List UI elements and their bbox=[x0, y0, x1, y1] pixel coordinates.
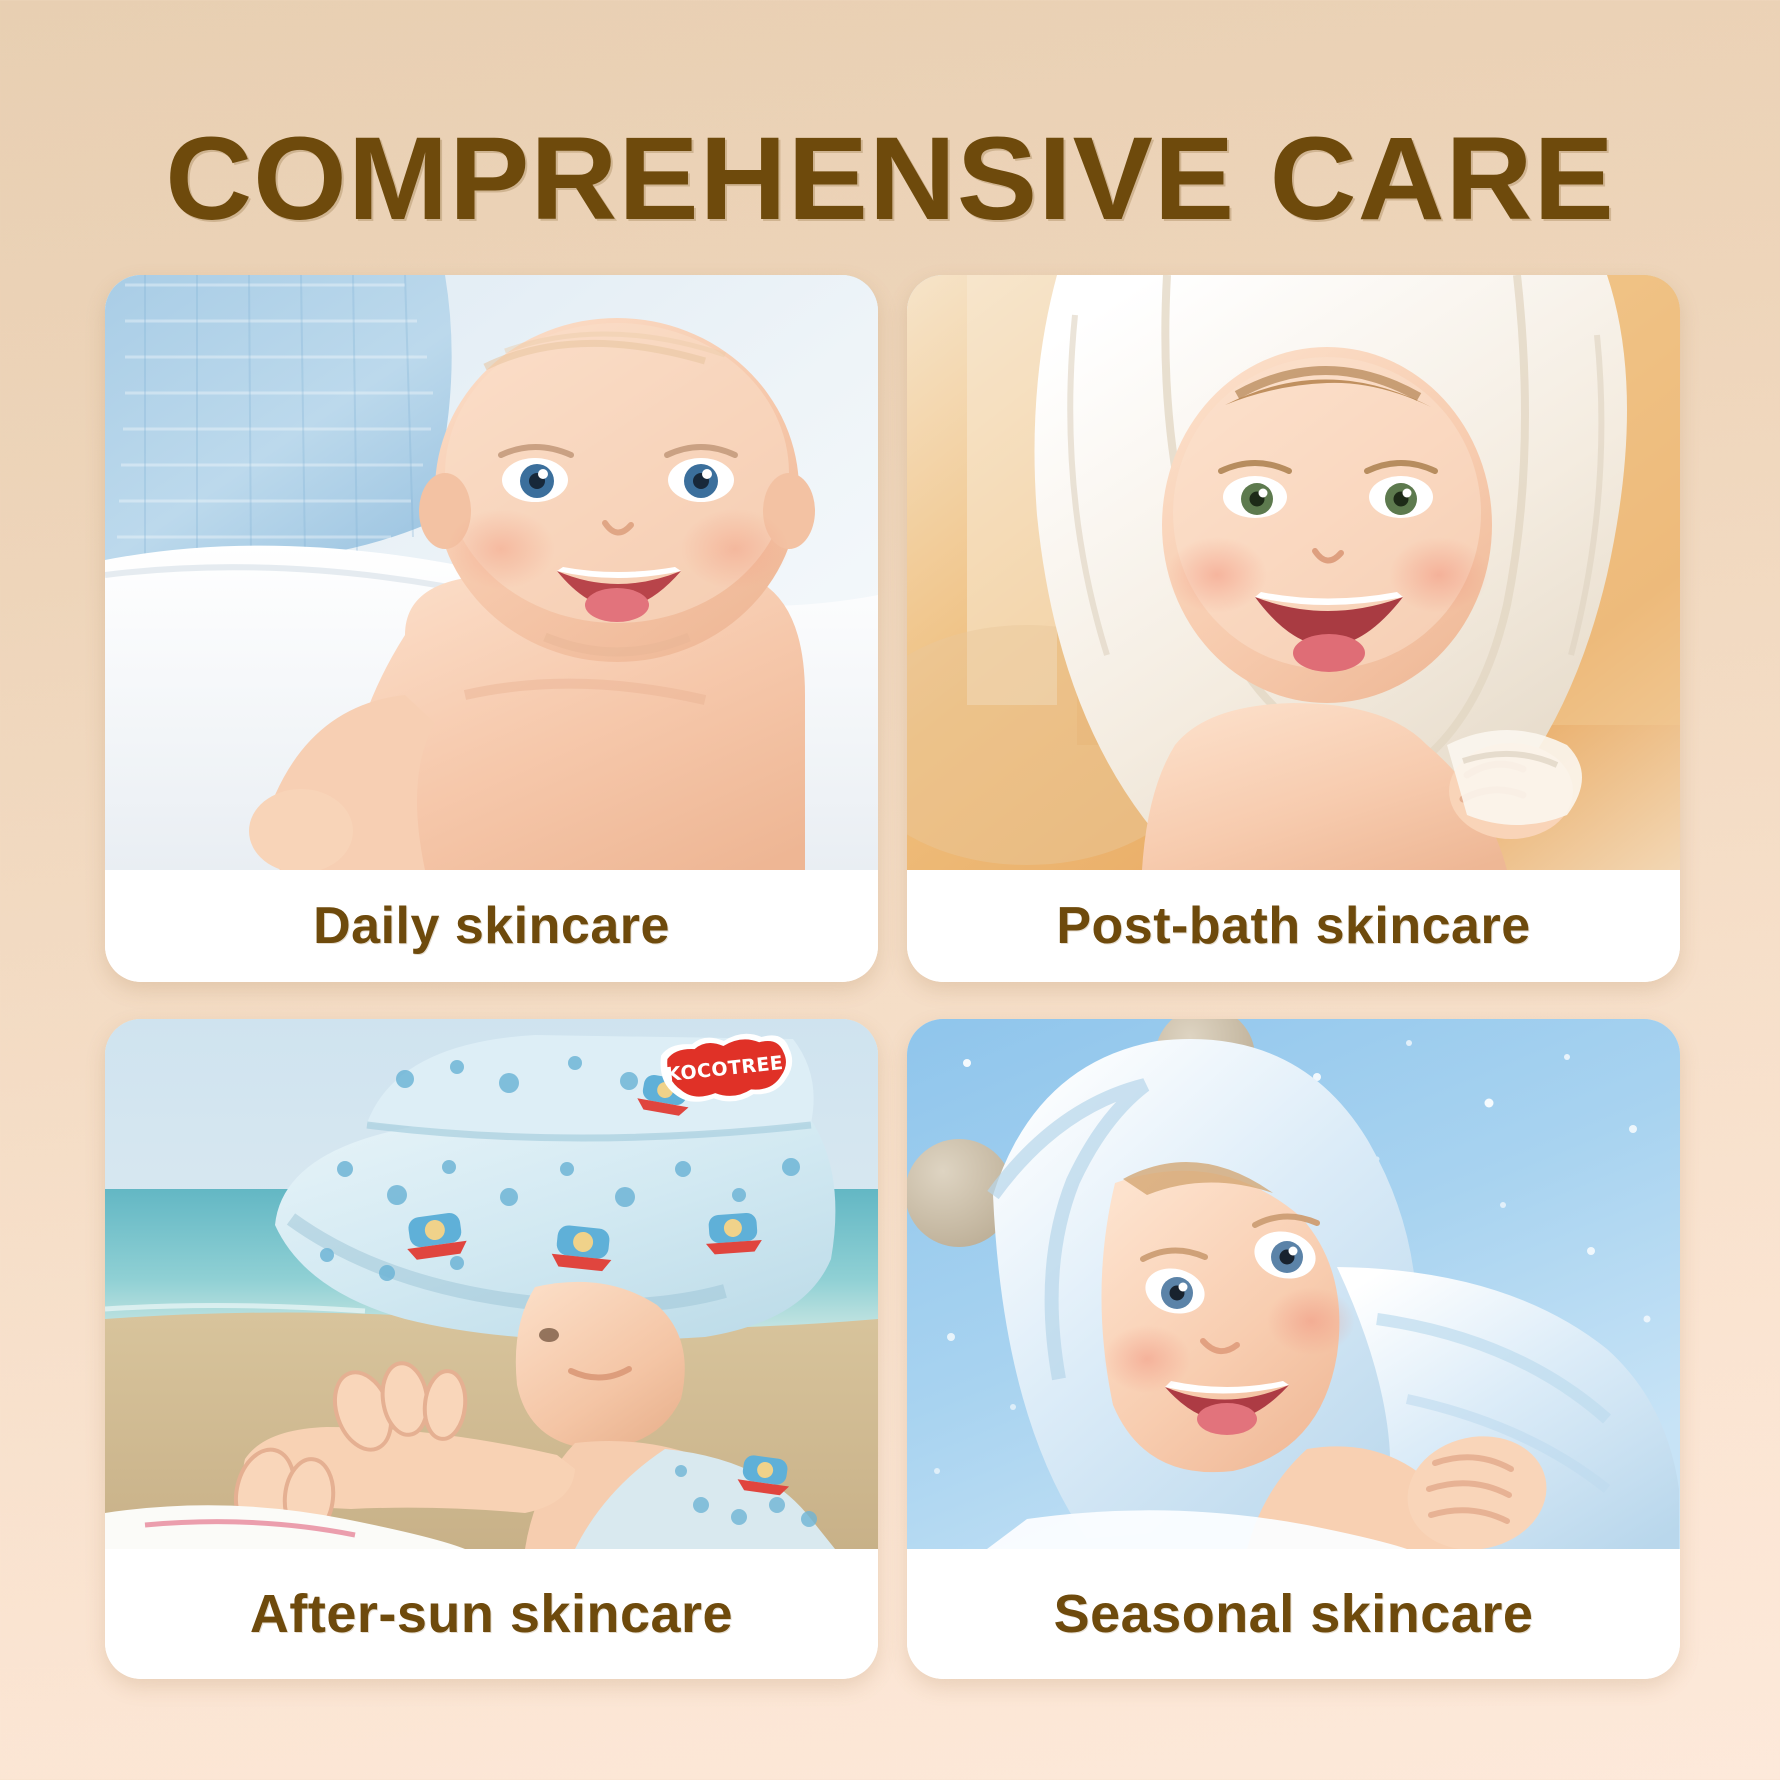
card-caption-after-sun-skincare: After-sun skincare bbox=[105, 1549, 878, 1679]
caption-text: Daily skincare bbox=[313, 896, 670, 956]
photo-after-sun-skincare: KOCOTREE bbox=[105, 1019, 878, 1549]
page-title: COMPREHENSIVE CARE bbox=[0, 118, 1780, 242]
illustration-bedroom-blue-pillow bbox=[105, 275, 878, 870]
care-card-after-sun-skincare[interactable]: KOCOTREE After-sun skincare bbox=[105, 1019, 878, 1679]
card-caption-post-bath-skincare: Post-bath skincare bbox=[907, 870, 1680, 982]
photo-post-bath-skincare bbox=[907, 275, 1680, 870]
illustration-beach-sun-hat: KOCOTREE bbox=[105, 1019, 878, 1549]
care-card-post-bath-skincare[interactable]: Post-bath skincare bbox=[907, 275, 1680, 982]
caption-text: Post-bath skincare bbox=[1056, 896, 1530, 956]
care-card-grid: Daily skincare bbox=[105, 275, 1680, 1679]
caption-text: Seasonal skincare bbox=[1054, 1583, 1534, 1645]
illustration-bath-cream-towel bbox=[907, 275, 1680, 870]
card-caption-daily-skincare: Daily skincare bbox=[105, 870, 878, 982]
photo-seasonal-skincare bbox=[907, 1019, 1680, 1549]
comprehensive-care-poster: COMPREHENSIVE CARE bbox=[0, 0, 1780, 1780]
caption-text: After-sun skincare bbox=[250, 1583, 733, 1645]
photo-daily-skincare bbox=[105, 275, 878, 870]
care-card-seasonal-skincare[interactable]: Seasonal skincare bbox=[907, 1019, 1680, 1679]
care-card-daily-skincare[interactable]: Daily skincare bbox=[105, 275, 878, 982]
illustration-winter-blue-towel bbox=[907, 1019, 1680, 1549]
card-caption-seasonal-skincare: Seasonal skincare bbox=[907, 1549, 1680, 1679]
